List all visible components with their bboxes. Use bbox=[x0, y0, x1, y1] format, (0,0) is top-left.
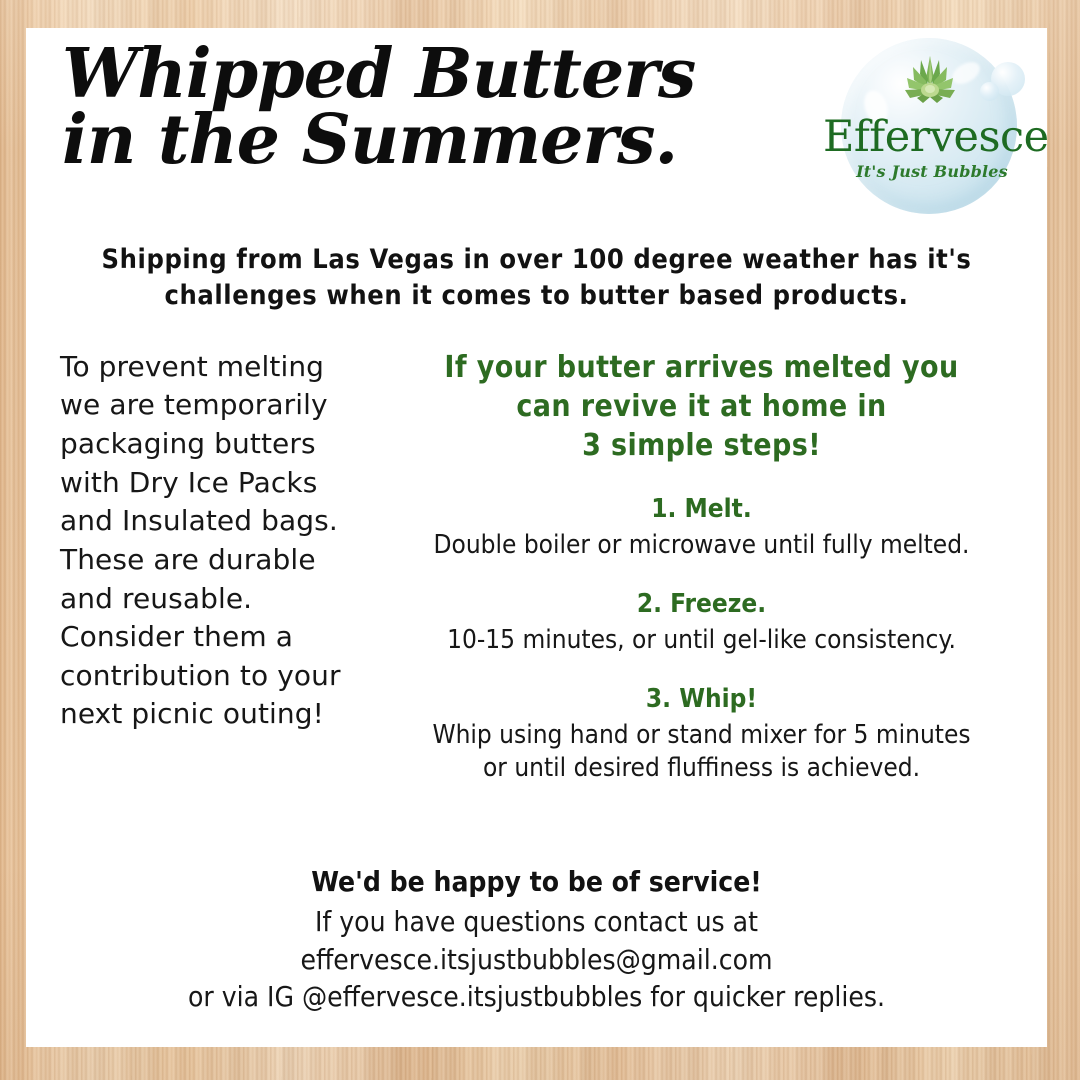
step-title: 2. Freeze. bbox=[374, 588, 1029, 622]
footer-instagram[interactable]: or via IG @effervesce.itsjustbubbles for… bbox=[66, 978, 1007, 1015]
step-description: Double boiler or microwave until fully m… bbox=[374, 529, 1029, 562]
logo-tagline: It's Just Bubbles bbox=[823, 162, 1041, 181]
list-item: 2. Freeze. 10-15 minutes, or until gel-l… bbox=[374, 588, 1029, 657]
header: Whipped Butters in the Summers. bbox=[26, 28, 1047, 224]
page-title: Whipped Butters in the Summers. bbox=[62, 42, 802, 174]
step-description: 10-15 minutes, or until gel-like consist… bbox=[374, 624, 1029, 657]
footer-heading: We'd be happy to be of service! bbox=[66, 864, 1007, 900]
succulent-agave-icon bbox=[899, 52, 961, 106]
footer-email[interactable]: effervesce.itsjustbubbles@gmail.com bbox=[66, 941, 1007, 978]
bubble-small-lower-icon bbox=[980, 82, 999, 101]
step-title: 1. Melt. bbox=[374, 493, 1029, 527]
step-description: Whip using hand or stand mixer for 5 min… bbox=[374, 719, 1029, 786]
footer-contact-prompt: If you have questions contact us at bbox=[66, 903, 1007, 940]
brand-logo: Effervesce It's Just Bubbles bbox=[823, 34, 1041, 218]
footer-contact: We'd be happy to be of service! If you h… bbox=[26, 864, 1047, 1015]
step-title: 3. Whip! bbox=[374, 683, 1029, 717]
subtitle-text: Shipping from Las Vegas in over 100 degr… bbox=[60, 242, 1013, 314]
revive-instructions: If your butter arrives melted you can re… bbox=[360, 348, 1029, 785]
body-columns: To prevent melting we are temporarily pa… bbox=[26, 348, 1047, 785]
list-item: 3. Whip! Whip using hand or stand mixer … bbox=[374, 683, 1029, 785]
packaging-paragraph: To prevent melting we are temporarily pa… bbox=[60, 348, 360, 734]
logo-brand-name: Effervesce bbox=[823, 116, 1041, 159]
steps-list: 1. Melt. Double boiler or microwave unti… bbox=[374, 493, 1029, 785]
list-item: 1. Melt. Double boiler or microwave unti… bbox=[374, 493, 1029, 562]
white-content-card: Whipped Butters in the Summers. bbox=[26, 28, 1047, 1047]
poster-canvas: Whipped Butters in the Summers. bbox=[0, 0, 1080, 1080]
revive-heading: If your butter arrives melted you can re… bbox=[374, 348, 1029, 465]
